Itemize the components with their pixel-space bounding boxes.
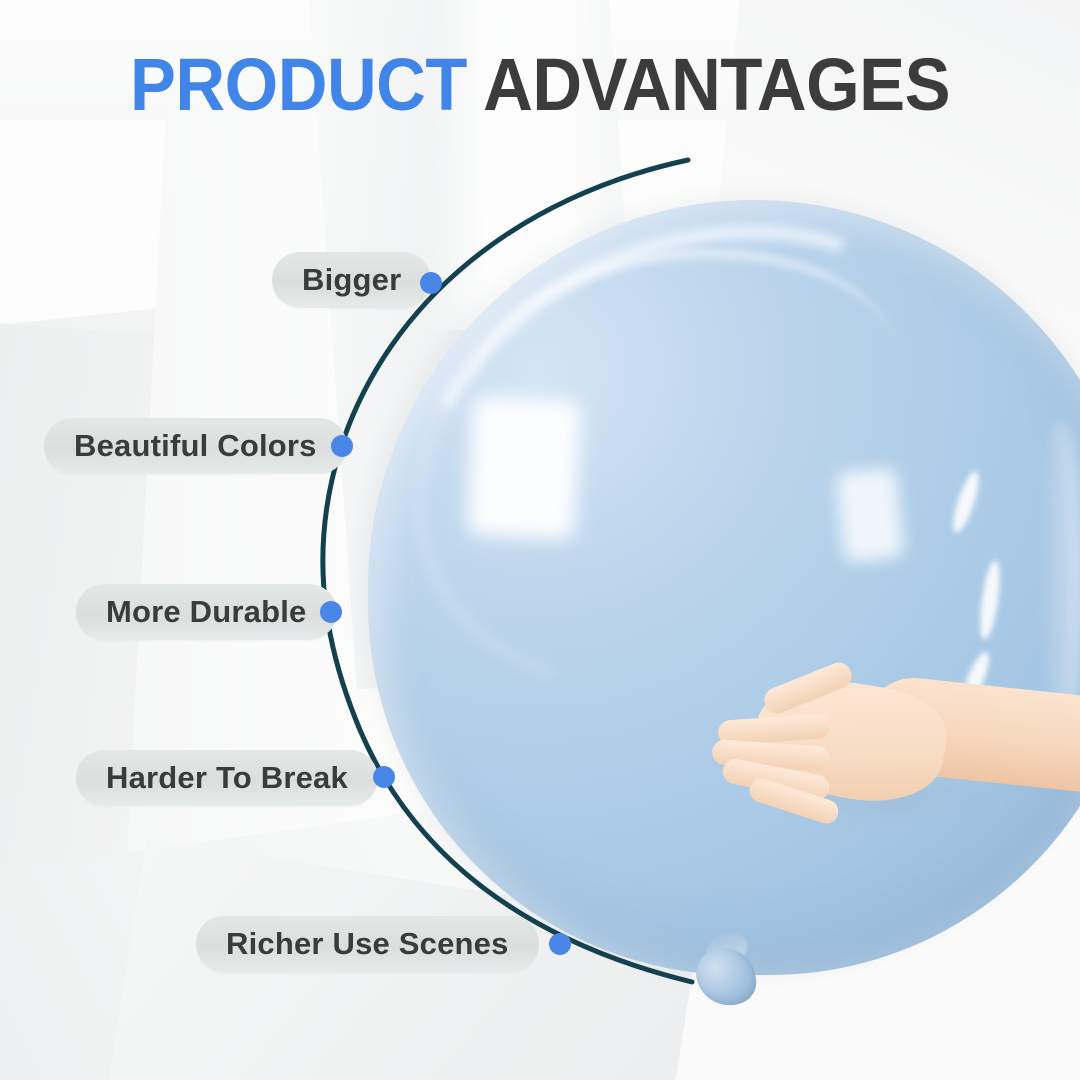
feature-label: Richer Use Scenes [226, 926, 509, 962]
feature-marker-bigger[interactable] [420, 272, 442, 294]
connector-arc [0, 0, 1080, 1080]
feature-marker-richer-use-scenes[interactable] [549, 933, 571, 955]
infographic-canvas: PRODUCT ADVANTAGES Bigger Beautiful C [0, 0, 1080, 1080]
feature-marker-beautiful-colors[interactable] [331, 435, 353, 457]
feature-pill-beautiful-colors[interactable]: Beautiful Colors [44, 418, 347, 474]
feature-marker-harder-to-break[interactable] [373, 766, 395, 788]
feature-label: More Durable [106, 594, 307, 630]
feature-pill-more-durable[interactable]: More Durable [76, 584, 337, 640]
feature-pill-harder-to-break[interactable]: Harder To Break [76, 750, 378, 806]
feature-pill-bigger[interactable]: Bigger [272, 252, 431, 308]
feature-label: Bigger [302, 262, 401, 298]
feature-label: Beautiful Colors [74, 428, 317, 464]
feature-label: Harder To Break [106, 760, 348, 796]
feature-pill-richer-use-scenes[interactable]: Richer Use Scenes [196, 916, 539, 972]
feature-marker-more-durable[interactable] [320, 601, 342, 623]
